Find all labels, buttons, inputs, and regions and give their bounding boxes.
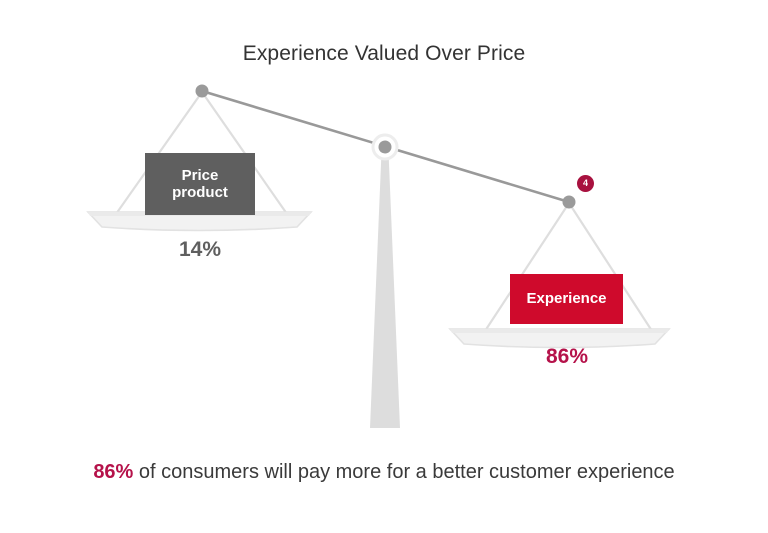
fulcrum-stand-icon — [370, 152, 400, 428]
caption: 86% of consumers will pay more for a bet… — [0, 458, 768, 486]
weight-box-experience-label: Experience — [526, 290, 606, 307]
weight-box-price: Price product — [145, 153, 255, 215]
center-pivot-icon — [373, 135, 397, 159]
weight-box-price-label-line1: Price — [182, 167, 219, 184]
right-pivot-knob-icon — [563, 196, 576, 209]
percent-label-experience: 86% — [507, 345, 627, 369]
weight-box-price-label-line2: product — [172, 184, 228, 201]
balance-scale-graphic — [0, 0, 768, 533]
caption-highlight: 86% — [93, 461, 133, 483]
caption-rest: of consumers will pay more for a better … — [133, 461, 674, 483]
infographic-canvas: Experience Valued Over Price — [0, 0, 768, 533]
step-number-badge: 4 — [577, 175, 594, 192]
weight-box-experience: Experience — [510, 274, 623, 324]
percent-label-price: 14% — [140, 238, 260, 262]
left-pivot-knob-icon — [196, 85, 209, 98]
